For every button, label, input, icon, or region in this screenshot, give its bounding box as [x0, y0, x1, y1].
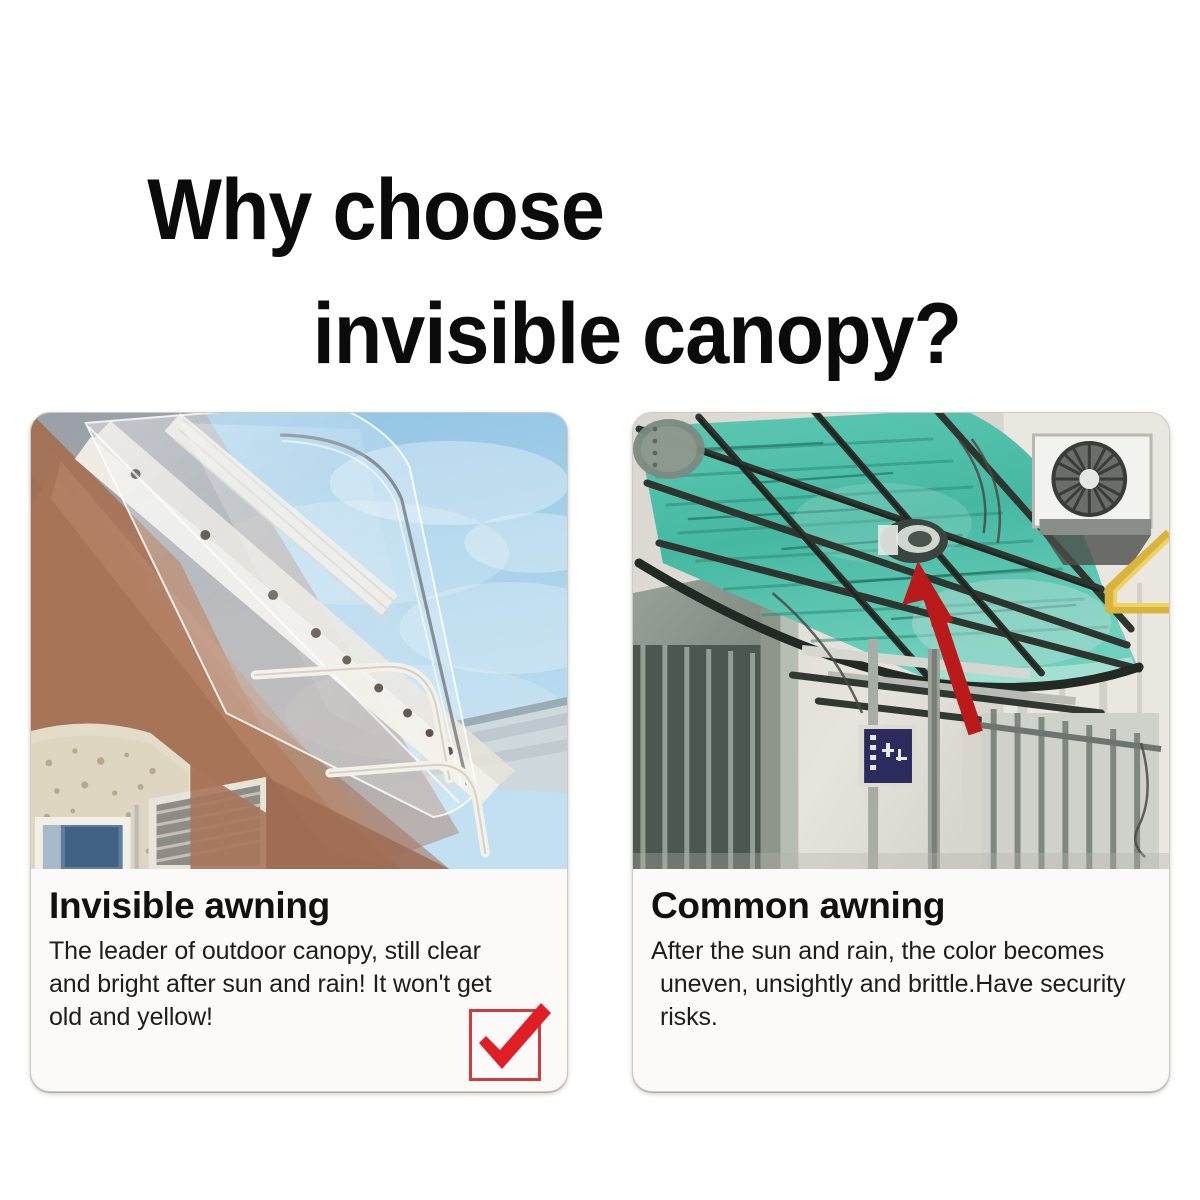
photo-invisible-awning — [31, 413, 567, 869]
card-text-line: After the sun and rain, the color become… — [651, 935, 1151, 968]
page-title-line-2: invisible canopy? — [0, 272, 1104, 396]
card-body-common-awning: Common awning After the sun and rain, th… — [633, 869, 1169, 1091]
card-common-awning[interactable]: Common awning After the sun and rain, th… — [632, 412, 1170, 1092]
page-title: Why choose invisible canopy? — [0, 148, 1104, 396]
card-text-line: and bright after sun and rain! It won't … — [49, 968, 549, 1001]
infographic-page: Why choose invisible canopy? — [0, 0, 1200, 1200]
card-text-line: risks. — [651, 1001, 1151, 1034]
card-text-invisible-awning: The leader of outdoor canopy, still clea… — [49, 935, 549, 1034]
card-invisible-awning[interactable]: Invisible awning The leader of outdoor c… — [30, 412, 568, 1092]
common-awning-illustration — [633, 413, 1169, 869]
invisible-awning-illustration — [31, 413, 567, 869]
card-text-line: old and yellow! — [49, 1001, 549, 1034]
card-text-common-awning: After the sun and rain, the color become… — [651, 935, 1151, 1034]
photo-common-awning — [633, 413, 1169, 869]
card-text-line: The leader of outdoor canopy, still clea… — [49, 935, 549, 968]
card-title-common-awning: Common awning — [651, 883, 1151, 929]
page-title-line-1: Why choose — [0, 148, 1104, 272]
card-body-invisible-awning: Invisible awning The leader of outdoor c… — [31, 869, 567, 1091]
card-title-invisible-awning: Invisible awning — [49, 883, 549, 929]
card-text-line: uneven, unsightly and brittle.Have secur… — [651, 968, 1151, 1001]
